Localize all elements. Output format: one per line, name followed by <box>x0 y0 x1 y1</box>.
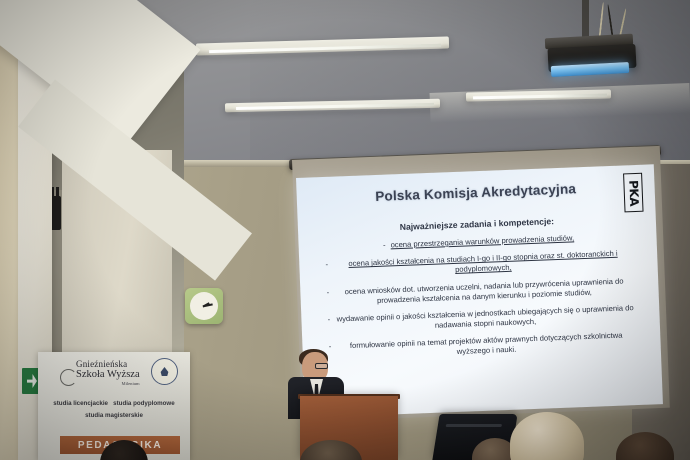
slide-title: Polska Komisja Akredytacyjna <box>297 178 655 207</box>
ceiling-shadow <box>250 0 690 168</box>
seal-book-glyph <box>159 367 170 376</box>
exit-arrow-glyph <box>27 374 37 388</box>
banner-name-line1: Gnieźnieńska <box>76 359 140 369</box>
bullet-text: ocena jakości kształcenia na studiach I-… <box>333 248 634 280</box>
slide-bullet: -wydawanie opinii o jakości kształcenia … <box>315 302 648 335</box>
bullet-text: ocena wniosków dot. utworzenia uczelni, … <box>334 276 635 308</box>
presentation-room-photo: PKA Polska Komisja Akredytacyjna Najważn… <box>0 0 690 460</box>
bullet-text: formułowanie opinii na temat projektów a… <box>336 330 637 362</box>
banner-program-2: studia podyplomowe <box>113 400 175 407</box>
banner-programs: studia licencjackie studia podyplomowe s… <box>38 398 190 422</box>
banner-seal-icon <box>151 358 178 385</box>
bullet-dash: - <box>329 342 332 352</box>
slide-bullet: -formułowanie opinii na temat projektów … <box>316 330 649 363</box>
slide-bullet: -ocena jakości kształcenia na studiach I… <box>313 248 646 281</box>
bullet-dash: - <box>383 241 386 251</box>
projector-mount-arm <box>582 0 589 40</box>
banner-institution-name: Gnieźnieńska Szkoła Wyższa Milenium <box>76 359 140 386</box>
slide-bullet-list: -ocena przestrzegania warunków prowadzen… <box>313 231 650 370</box>
banner-name-line2: Szkoła Wyższa <box>76 369 140 381</box>
bullet-text: wydawanie opinii o jakości kształcenia w… <box>335 303 636 335</box>
glasses-icon <box>315 363 328 369</box>
banner-ring-logo-icon <box>60 369 77 386</box>
clock-face <box>190 292 218 320</box>
banner-name-line3: Milenium <box>76 381 140 386</box>
fluorescent-tube <box>473 94 606 100</box>
bullet-dash: - <box>325 260 328 270</box>
bullet-text: ocena przestrzegania warunków prowadzeni… <box>390 233 574 250</box>
wall-clock <box>185 288 223 324</box>
banner-program-3: studia magisterskie <box>38 410 190 422</box>
bullet-dash: - <box>328 315 331 325</box>
banner-program-1: studia licencjackie <box>53 400 108 407</box>
bullet-dash: - <box>326 287 329 297</box>
slide-bullet: -ocena wniosków dot. utworzenia uczelni,… <box>314 275 647 308</box>
